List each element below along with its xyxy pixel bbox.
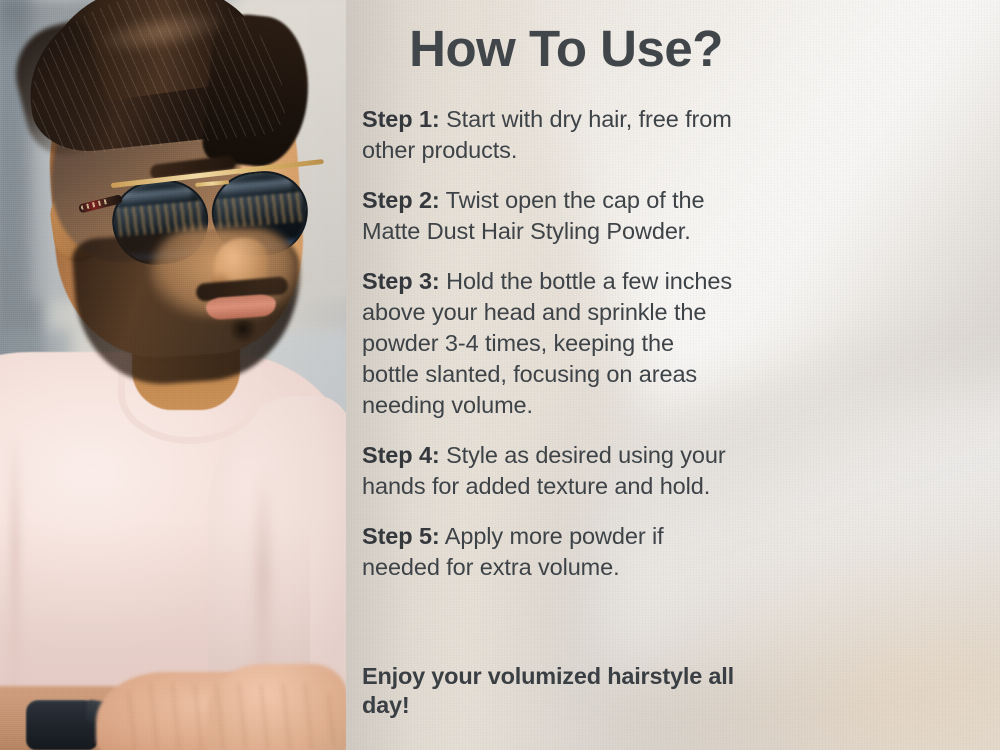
model-photo	[0, 0, 346, 750]
how-to-use-infographic: How To Use? Step 1: Start with dry hair,…	[0, 0, 1000, 750]
step-label: Step 1:	[362, 106, 440, 132]
step-label: Step 5:	[362, 523, 440, 549]
list-item: Step 3: Hold the bottle a few inches abo…	[362, 266, 734, 421]
step-label: Step 3:	[362, 268, 440, 294]
step-label: Step 4:	[362, 442, 440, 468]
instructions-panel: How To Use? Step 1: Start with dry hair,…	[362, 0, 762, 750]
page-title: How To Use?	[388, 22, 744, 75]
step-label: Step 2:	[362, 187, 440, 213]
closing-message: Enjoy your volumized hairstyle all day!	[362, 662, 734, 720]
list-item: Step 2: Twist open the cap of the Matte …	[362, 185, 734, 247]
photo-grain	[0, 0, 346, 750]
steps-list: Step 1: Start with dry hair, free from o…	[362, 104, 734, 602]
list-item: Step 5: Apply more powder if needed for …	[362, 521, 734, 583]
list-item: Step 4: Style as desired using your hand…	[362, 440, 734, 502]
list-item: Step 1: Start with dry hair, free from o…	[362, 104, 734, 166]
